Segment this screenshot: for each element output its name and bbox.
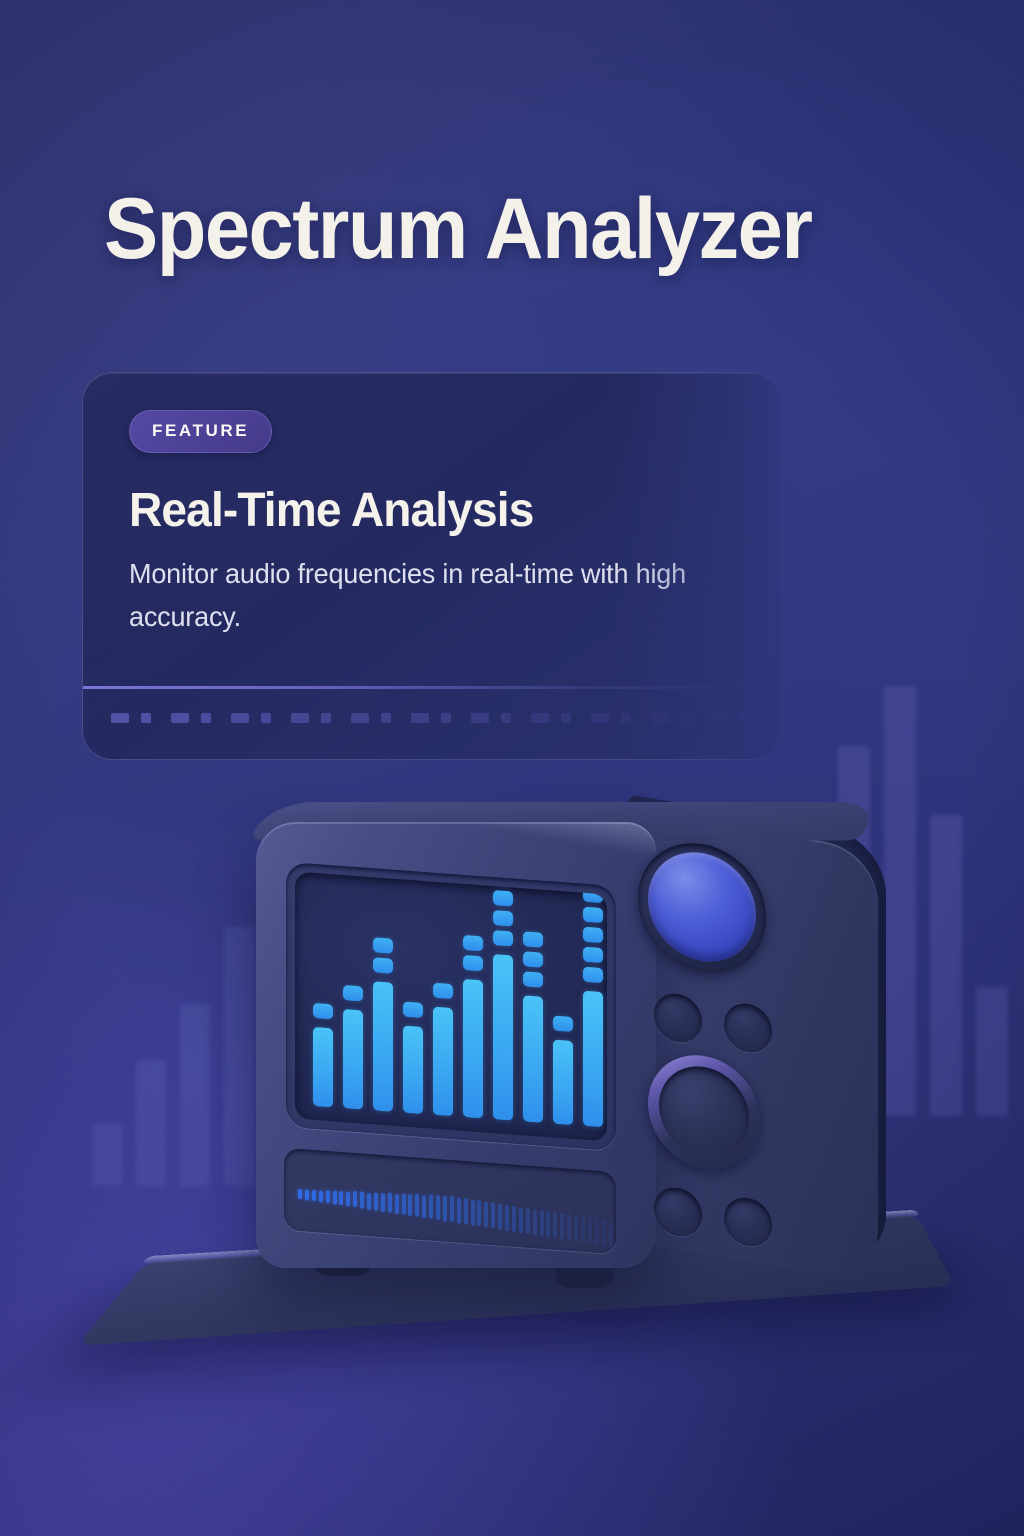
vu-meter-segment	[326, 1190, 330, 1203]
spectrum-bar-peak	[583, 927, 603, 943]
spectrum-bar-peak	[403, 1001, 423, 1017]
spectrum-bar	[493, 879, 513, 1120]
vu-meter-segment	[298, 1189, 302, 1199]
vu-meter-segment	[498, 1203, 502, 1229]
vu-meter-segment	[581, 1216, 585, 1242]
spectrum-bar-peak	[493, 930, 513, 946]
vu-meter-segment	[553, 1212, 557, 1238]
spectrum-bar	[403, 872, 423, 1113]
vu-meter-segment	[526, 1208, 530, 1234]
vu-meter-segment	[333, 1190, 337, 1204]
spectrum-bar-body	[523, 995, 543, 1122]
vu-meter-segment	[484, 1201, 488, 1227]
spectrum-bar-peak	[493, 872, 513, 887]
spectrum-bar-body	[343, 1009, 363, 1109]
spectrum-bar-peak	[373, 937, 393, 953]
spectrum-bar-peak	[523, 931, 543, 947]
selector-knob-cap	[659, 1060, 749, 1164]
spectrum-bar-peak	[373, 957, 393, 973]
spectrum-bar-peak	[463, 935, 483, 951]
vu-meter-segment	[450, 1196, 454, 1222]
spectrum-bar	[343, 872, 363, 1110]
spectrum-bar-peak	[523, 971, 543, 987]
spectrum-bar-body	[433, 1007, 453, 1116]
vu-meter-segment	[415, 1194, 419, 1217]
spectrum-bar-peak	[343, 985, 363, 1001]
vu-meter-strip	[284, 1148, 616, 1254]
vu-meter-segment	[540, 1210, 544, 1236]
vu-meter-segment	[464, 1198, 468, 1224]
device-front-panel	[256, 822, 656, 1268]
vu-meter-segment	[367, 1192, 371, 1209]
vu-meter-segment	[346, 1191, 350, 1206]
main-tuning-knob-cap	[648, 844, 756, 969]
spectrum-bar	[373, 872, 393, 1112]
vu-meter-segment	[567, 1214, 571, 1240]
vu-meter-segment	[312, 1190, 316, 1201]
device-illustration	[0, 0, 1024, 1536]
spectrum-bar-peak	[433, 983, 453, 999]
spectrum-bar-body	[553, 1039, 573, 1124]
vu-meter-segment	[457, 1197, 461, 1223]
spectrum-bar-peak	[553, 1015, 573, 1031]
spectrum-bar-peak	[523, 951, 543, 967]
spectrum-bar-peak	[583, 907, 603, 923]
vu-meter-segment	[443, 1195, 447, 1221]
vu-meter-segment	[471, 1199, 475, 1225]
spectrum-bar-body	[583, 991, 603, 1127]
vu-meter-segment	[353, 1191, 357, 1207]
vu-meter-segment	[374, 1192, 378, 1210]
screen-bezel	[286, 862, 616, 1151]
vu-meter-segment	[305, 1189, 309, 1200]
spectrum-bar-peak	[493, 910, 513, 926]
vu-meter-segment	[609, 1220, 613, 1246]
vu-meter-segment	[505, 1205, 509, 1231]
device-body	[256, 806, 896, 1276]
spectrum-bar	[583, 886, 603, 1127]
vu-meter-segment	[319, 1190, 323, 1202]
spectrum-bar	[463, 877, 483, 1118]
spectrum-bar	[523, 881, 543, 1122]
vu-meter-segment	[408, 1194, 412, 1216]
vu-meter-segment	[546, 1211, 550, 1237]
vu-meter-segment	[574, 1215, 578, 1241]
vu-meter-segment	[602, 1219, 606, 1245]
vu-meter-segment	[360, 1191, 364, 1208]
spectrum-bar-peak	[463, 955, 483, 971]
spectrum-bar-peak	[583, 947, 603, 963]
spectrum-bar	[553, 883, 573, 1124]
vu-meter-segment	[512, 1206, 516, 1232]
spectrum-bar-body	[403, 1025, 423, 1113]
vu-meter-segment	[436, 1195, 440, 1220]
spectrum-bar-body	[373, 981, 393, 1111]
vu-meter-segment	[588, 1217, 592, 1243]
vu-meter-segment	[560, 1213, 564, 1239]
spectrum-bar-body	[313, 1027, 333, 1107]
spectrum-bar-body	[463, 979, 483, 1118]
vu-meter-segment	[477, 1200, 481, 1226]
spectrum-bar-peak	[313, 1003, 333, 1019]
spectrum-bar-peak	[583, 887, 603, 903]
spectrum-bar	[433, 875, 453, 1116]
vu-meter-segment	[519, 1207, 523, 1233]
vu-meter-segment	[429, 1195, 433, 1219]
vu-meter-segment	[339, 1191, 343, 1205]
vu-meter-segment	[402, 1194, 406, 1215]
spectrum-bar-peak	[493, 890, 513, 906]
vu-meter-segment	[422, 1195, 426, 1218]
spectrum-display	[295, 872, 607, 1142]
spectrum-bar	[313, 872, 333, 1108]
spectrum-bar-body	[493, 954, 513, 1120]
spectrum-bar-peak	[583, 967, 603, 983]
vu-meter-segment	[381, 1193, 385, 1212]
vu-meter-segment	[491, 1202, 495, 1228]
vu-meter-segment	[388, 1193, 392, 1213]
vu-meter-segment	[595, 1218, 599, 1244]
vu-meter-segment	[533, 1209, 537, 1235]
vu-meter-segment	[395, 1194, 399, 1214]
